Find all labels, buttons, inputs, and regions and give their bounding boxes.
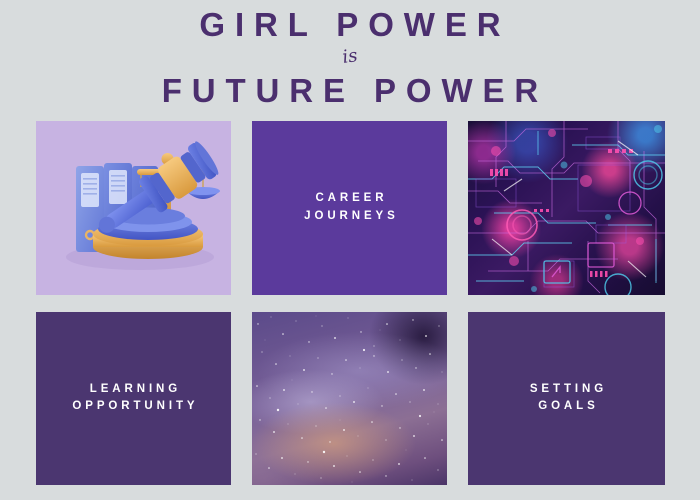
tile-caption-line-2: JOURNEYS [252,208,447,226]
tile-learning-opportunity[interactable]: LEARNING OPPORTUNITY [36,312,231,485]
gavel-scales-icon [36,121,231,295]
tile-caption-line-1: CAREER [252,190,447,208]
tile-technology-image[interactable] [468,121,665,295]
tile-caption-setting-goals: SETTING GOALS [468,381,665,417]
tile-caption-line-1: SETTING [468,381,665,399]
tile-career-journeys[interactable]: CAREER JOURNEYS [252,121,447,295]
poster-canvas: GIRL POWER is FUTURE POWER [0,0,700,500]
tile-galaxy-image[interactable] [252,312,447,485]
tile-caption-line-2: GOALS [468,399,665,417]
tile-caption-line-2: OPPORTUNITY [36,399,231,417]
tile-setting-goals[interactable]: SETTING GOALS [468,312,665,485]
starfield-icon [252,312,447,485]
circuit-board-icon [468,121,665,295]
tile-caption-learning-opportunity: LEARNING OPPORTUNITY [36,381,231,417]
headline-block: GIRL POWER is FUTURE POWER [0,0,700,118]
tile-justice-image[interactable] [36,121,231,295]
tile-grid: CAREER JOURNEYS [36,121,664,485]
tile-caption-career-journeys: CAREER JOURNEYS [252,190,447,226]
tile-caption-line-1: LEARNING [36,381,231,399]
headline-line-2: FUTURE POWER [0,74,700,107]
